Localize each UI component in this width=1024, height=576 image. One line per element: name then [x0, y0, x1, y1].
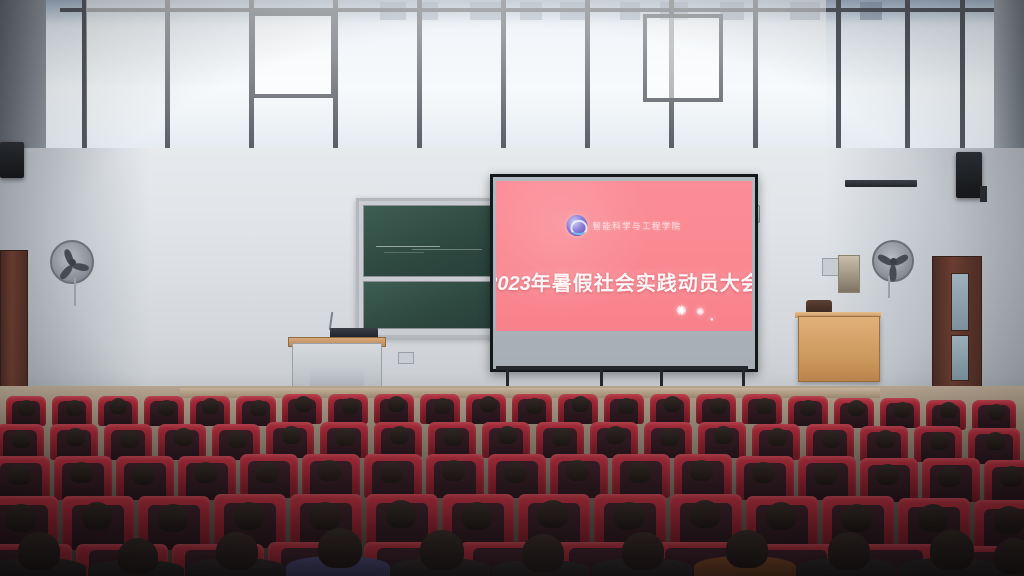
attendee-head [442, 460, 465, 481]
institute-emblem-icon [566, 215, 587, 236]
mullion [501, 0, 506, 158]
attendee-head [6, 504, 36, 532]
attendee-head [480, 396, 497, 412]
wall-speaker-right [956, 152, 982, 198]
attendee-head [380, 462, 403, 483]
attendee-head [752, 462, 775, 483]
attendee-head [336, 428, 355, 446]
attendee-head [132, 464, 155, 485]
attendee-head [18, 400, 35, 416]
green-chalkboard [356, 198, 498, 338]
fan-blade [58, 263, 74, 281]
wall-fan-left [50, 240, 94, 284]
fan-cord [74, 278, 76, 306]
attendee-head [628, 462, 651, 483]
window-pane-openable [251, 12, 335, 98]
attendee-head [70, 462, 93, 483]
attendee-head [498, 426, 517, 444]
attendee-head [282, 426, 301, 444]
attendee-head [800, 400, 817, 416]
attendee-head [318, 460, 341, 481]
mullion [753, 0, 758, 158]
attendee-head [82, 502, 112, 530]
slide-logo-row: 智能科学与工程学院 [566, 215, 681, 236]
dove-icon: ● [710, 317, 714, 323]
attendee-head [756, 398, 773, 414]
attendee-head [158, 400, 175, 416]
attendee-head [664, 396, 681, 412]
attendee-head [310, 502, 340, 530]
chalk-mark [412, 249, 482, 250]
mullion [960, 0, 965, 164]
lecture-hall-photo: 智能科学与工程学院 2023年暑假社会实践动员大会 ✺ ✺ ● [0, 0, 1024, 576]
chalkboard-lower-panel [363, 281, 491, 329]
chalk-mark [376, 246, 440, 247]
dove-icon: ✺ [696, 307, 704, 318]
attendee-head [522, 534, 564, 572]
chalkboard-upper-panel [363, 205, 491, 277]
wall-speaker-left [0, 142, 24, 178]
slide-org-label: 智能科学与工程学院 [592, 220, 681, 232]
door-glass-panel [951, 273, 969, 331]
attendee-head [572, 396, 589, 412]
fan-blade [890, 265, 897, 282]
attendee-head [342, 398, 359, 414]
attendee-head [848, 400, 865, 416]
attendee-head [444, 428, 463, 446]
attendee-head [894, 402, 911, 418]
right-column [994, 0, 1024, 165]
attendee-head [8, 464, 31, 485]
attendee-head [814, 464, 837, 485]
attendee-head [618, 398, 635, 414]
slide-title: 2023年暑假社会实践动员大会 [496, 267, 752, 296]
attendee-head [918, 504, 948, 532]
mullion [82, 0, 87, 158]
mullion [165, 0, 170, 158]
attendee-head [250, 400, 267, 416]
attendee-head [295, 396, 312, 412]
slide-title-rest: 年暑假社会实践动员大会 [531, 273, 752, 295]
attendee-head [174, 428, 193, 446]
speaker-bracket [980, 186, 987, 202]
attendee-head [234, 502, 264, 530]
attendee-head [66, 400, 83, 416]
attendee-head [420, 530, 464, 570]
attendee-head [726, 530, 768, 568]
attendee-head [390, 426, 409, 444]
attendee-head [526, 398, 543, 414]
attendee-head [930, 432, 949, 450]
mullion [905, 0, 910, 162]
attendee-head [202, 398, 219, 414]
chalk-mark [384, 252, 424, 253]
attendee-head [938, 466, 961, 487]
wall-rail-bar [845, 180, 917, 187]
attendee-head [660, 428, 679, 446]
attendee-head [690, 460, 713, 481]
attendee-head [256, 462, 279, 483]
mullion [60, 8, 1024, 12]
attendee-head [318, 528, 362, 568]
fan-cord [888, 276, 890, 298]
mullion [585, 0, 590, 158]
attendee-head [504, 462, 527, 483]
attendee-head [216, 532, 258, 570]
attendee-head [66, 428, 85, 446]
attendee-head [118, 538, 158, 574]
fan-hub [890, 258, 897, 265]
attendee-head [690, 500, 720, 528]
attendee-head [12, 430, 31, 448]
attendee-head [822, 430, 841, 448]
attendee-head [386, 500, 416, 528]
attendee-head [462, 502, 492, 530]
left-column [0, 0, 46, 160]
attendee-head [538, 500, 568, 528]
attendee-head [988, 404, 1005, 420]
window-band [0, 0, 1024, 160]
attendee-head [614, 502, 644, 530]
attendee-head [552, 428, 571, 446]
fan-hub [69, 259, 76, 266]
attendee-head [710, 398, 727, 414]
attendee-head [930, 530, 974, 570]
window-pane-openable [643, 14, 723, 102]
audience-area [0, 372, 1024, 576]
mullion [417, 0, 422, 158]
attendee-head [434, 398, 451, 414]
attendee-head [876, 430, 895, 448]
attendee-head [842, 504, 872, 532]
attendee-head [986, 432, 1005, 450]
attendee-head [714, 426, 733, 444]
attendee-head [828, 532, 870, 570]
wall-poster [838, 255, 860, 293]
attendee-head [768, 428, 787, 446]
attendee-head [566, 460, 589, 481]
attendee-head [120, 430, 139, 448]
projection-screen: 智能科学与工程学院 2023年暑假社会实践动员大会 ✺ ✺ ● [490, 174, 758, 372]
attendee-head [1000, 466, 1023, 487]
wall-fan-right [872, 240, 914, 282]
slide-title-year: 2023 [496, 273, 531, 295]
wall-socket [398, 352, 414, 364]
projected-slide: 智能科学与工程学院 2023年暑假社会实践动员大会 ✺ ✺ ● [496, 181, 752, 331]
attendee-head [766, 502, 796, 530]
attendee-head [228, 430, 247, 448]
mullion [836, 0, 841, 160]
attendee-head [388, 396, 405, 412]
attendee-head [194, 462, 217, 483]
screen-bottom-bar [496, 366, 748, 370]
attendee-head [940, 402, 957, 418]
attendee-head [110, 398, 127, 414]
attendee-head [606, 426, 625, 444]
attendee-head [158, 504, 188, 532]
attendee-head [994, 506, 1024, 534]
attendee-head [994, 538, 1024, 574]
attendee-head [18, 532, 60, 570]
attendee-head [622, 532, 664, 570]
attendee-head [876, 464, 899, 485]
dove-icon: ✺ [676, 303, 687, 319]
